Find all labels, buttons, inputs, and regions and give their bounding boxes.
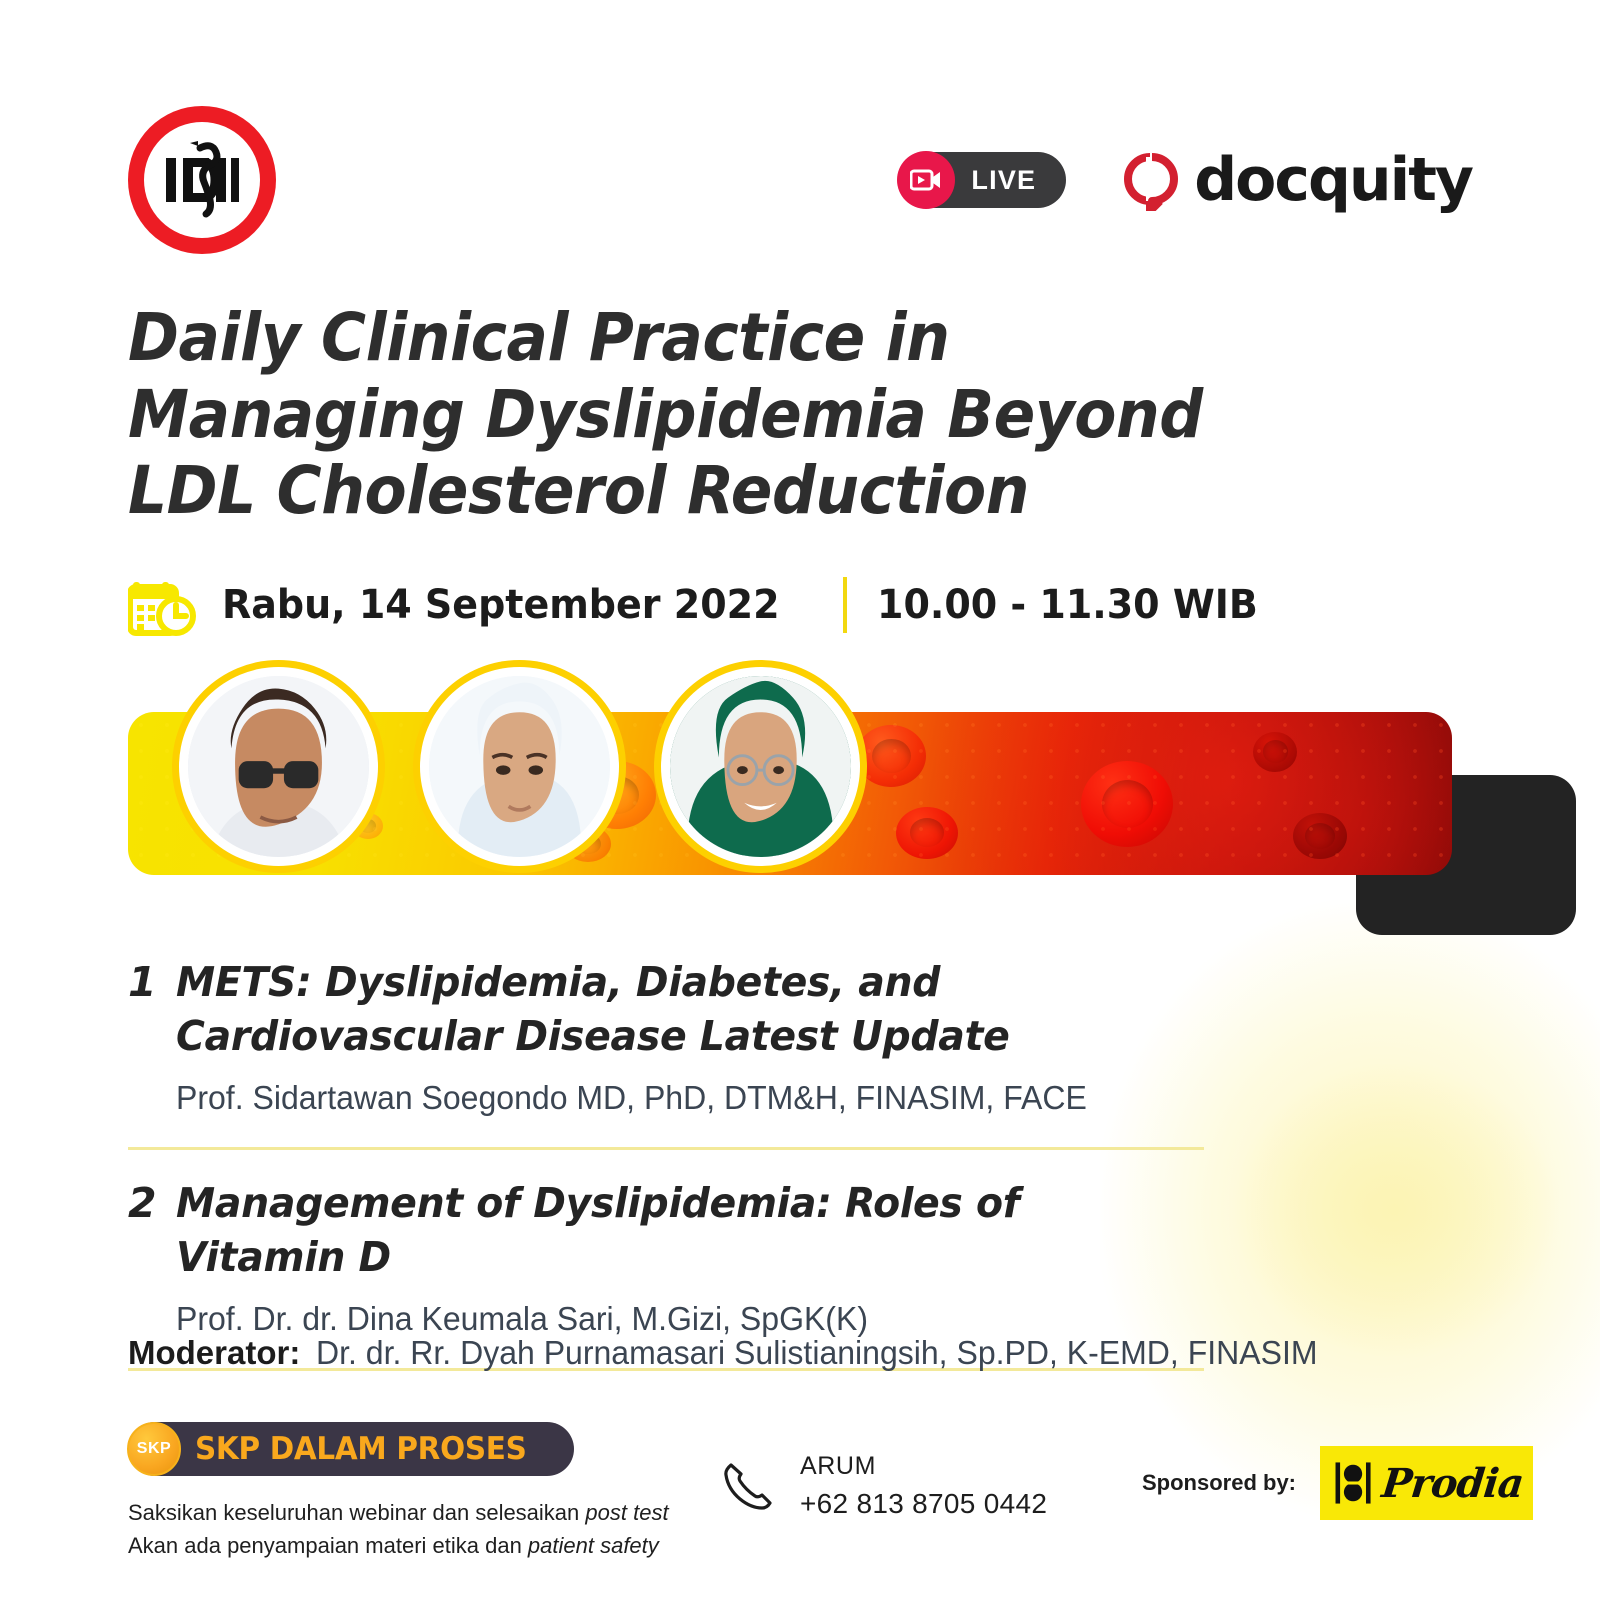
session-speaker: Prof. Dr. dr. Dina Keumala Sari, M.Gizi,… (176, 1300, 1173, 1338)
title-line-3: LDL Cholesterol Reduction (128, 453, 1244, 530)
live-badge: LIVE (898, 152, 1066, 208)
list-item: 2 Management of Dyslipidemia: Roles of V… (128, 1176, 1204, 1338)
skp-note-line-1-emphasis: post test (585, 1500, 668, 1525)
session-title: Management of Dyslipidemia: Roles of Vit… (176, 1176, 1163, 1284)
session-list: 1 METS: Dyslipidemia, Diabetes, and Card… (128, 955, 1204, 1397)
avatar (172, 660, 385, 873)
docquity-mark-icon (1120, 149, 1182, 211)
title-line-2: Managing Dyslipidemia Beyond (128, 377, 1244, 454)
session-title: METS: Dyslipidemia, Diabetes, and Cardio… (176, 955, 1163, 1063)
page-title: Daily Clinical Practice in Managing Dysl… (128, 300, 1244, 530)
sponsor-section: Sponsored by: Prodia (1142, 1446, 1533, 1520)
docquity-logo: docquity (1120, 145, 1472, 215)
status-badge: SKP SKP DALAM PROSES (128, 1422, 574, 1476)
idi-monogram-icon (150, 128, 254, 232)
poster-header: LIVE docquity (128, 105, 1472, 255)
moderator-row: Moderator: Dr. dr. Rr. Dyah Purnamasari … (128, 1334, 1349, 1372)
session-divider (128, 1147, 1204, 1150)
prodia-wordmark: Prodia (1380, 1460, 1526, 1507)
skp-note-line-2: Akan ada penyampaian materi etika dan pa… (128, 1529, 669, 1562)
webinar-poster: LIVE docquity Daily Clinical Practice in… (0, 0, 1600, 1600)
session-number: 1 (128, 955, 176, 1009)
speaker-banner (128, 660, 1472, 935)
moderator-label: Moderator: (128, 1334, 300, 1372)
skp-note: Saksikan keseluruhan webinar dan selesai… (128, 1496, 669, 1563)
prodia-logo: Prodia (1320, 1446, 1533, 1520)
skp-note-line-2-text: Akan ada penyampaian materi etika dan (128, 1533, 528, 1558)
calendar-clock-icon (128, 572, 200, 638)
speaker-avatars (172, 660, 867, 873)
skp-section: SKP SKP DALAM PROSES Saksikan keseluruha… (128, 1422, 669, 1563)
avatar (413, 660, 626, 873)
speaker-photo-3 (670, 676, 851, 857)
schedule-row: Rabu, 14 September 2022 10.00 - 11.30 WI… (128, 570, 1278, 640)
contact-name: ARUM (800, 1448, 1047, 1484)
video-camera-icon (897, 151, 955, 209)
schedule-divider (843, 577, 847, 633)
contact-phone[interactable]: +62 813 8705 0442 (800, 1484, 1047, 1525)
session-number: 2 (128, 1176, 176, 1230)
skp-note-line-1-text: Saksikan keseluruhan webinar dan selesai… (128, 1500, 585, 1525)
event-date: Rabu, 14 September 2022 (222, 582, 780, 628)
title-line-1: Daily Clinical Practice in (128, 300, 1244, 377)
header-badges: LIVE docquity (898, 145, 1472, 215)
skp-badge-label: SKP DALAM PROSES (195, 1431, 527, 1467)
live-label: LIVE (971, 165, 1036, 196)
speaker-photo-2 (429, 676, 610, 857)
contact-section: ARUM +62 813 8705 0442 (718, 1448, 1047, 1525)
docquity-wordmark: docquity (1194, 145, 1472, 215)
event-time: 10.00 - 11.30 WIB (877, 582, 1258, 628)
phone-icon (718, 1457, 776, 1515)
moderator-name: Dr. dr. Rr. Dyah Purnamasari Sulistianin… (316, 1334, 1318, 1372)
background-glow-decoration-secondary (1230, 1060, 1560, 1360)
skp-note-line-2-emphasis: patient safety (528, 1533, 659, 1558)
prodia-mark-icon (1334, 1454, 1372, 1512)
idi-logo (128, 106, 276, 254)
skp-coin-icon: SKP (127, 1422, 181, 1476)
session-speaker: Prof. Sidartawan Soegondo MD, PhD, DTM&H… (176, 1079, 1173, 1117)
list-item: 1 METS: Dyslipidemia, Diabetes, and Card… (128, 955, 1204, 1117)
skp-note-line-1: Saksikan keseluruhan webinar dan selesai… (128, 1496, 669, 1529)
sponsor-label: Sponsored by: (1142, 1470, 1296, 1496)
speaker-photo-1 (188, 676, 369, 857)
avatar (654, 660, 867, 873)
